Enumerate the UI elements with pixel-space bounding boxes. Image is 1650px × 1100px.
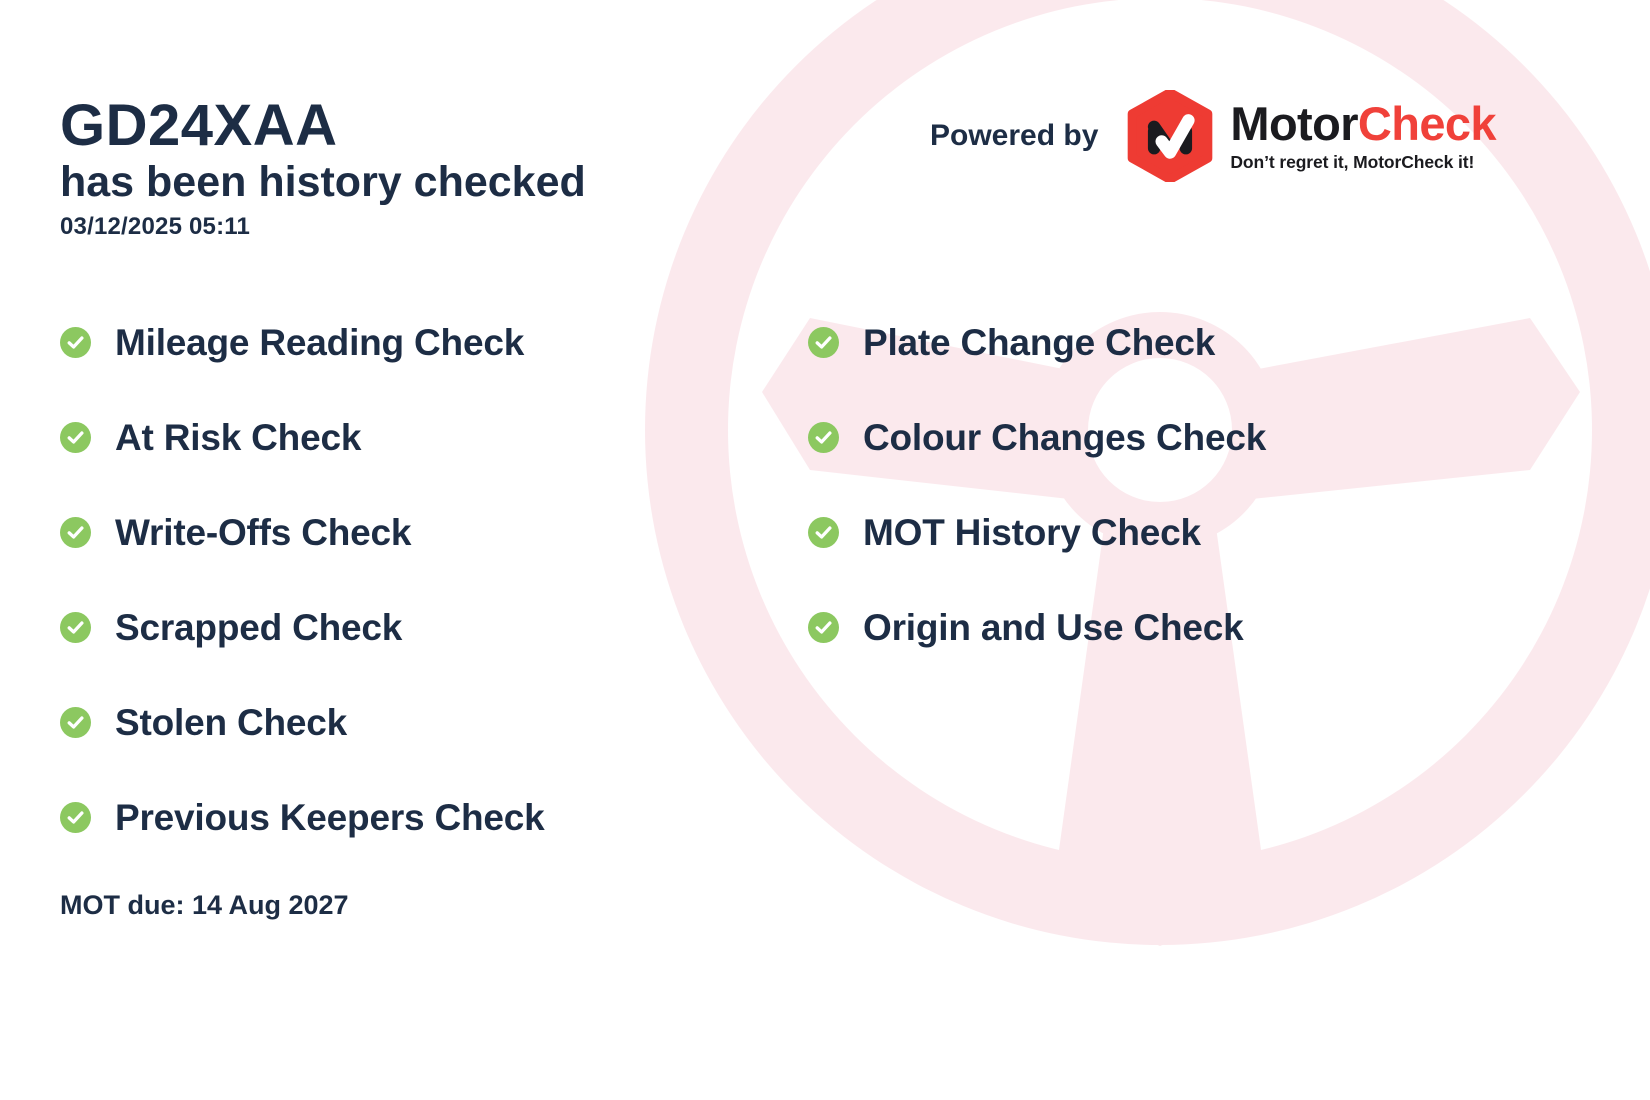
check-timestamp: 03/12/2025 05:11 — [60, 213, 586, 241]
powered-by-block: Powered by MotorCheck — [930, 88, 1496, 184]
wordmark-check: Check — [1358, 97, 1496, 150]
motorcheck-wordmark: MotorCheck — [1230, 100, 1496, 147]
check-circle-icon — [60, 802, 91, 833]
check-circle-icon — [60, 612, 91, 643]
check-label: At Risk Check — [115, 419, 361, 456]
check-circle-icon — [60, 422, 91, 453]
checks-column-left: Mileage Reading Check At Risk Check Writ… — [60, 313, 545, 883]
check-circle-icon — [808, 517, 839, 548]
motorcheck-logo[interactable]: MotorCheck Don’t regret it, MotorCheck i… — [1124, 90, 1496, 182]
mot-due-date: MOT due: 14 Aug 2027 — [60, 890, 349, 921]
check-item: Stolen Check — [60, 693, 545, 751]
header-subtitle: has been history checked — [60, 156, 586, 208]
header-block: GD24XAA has been history checked 03/12/2… — [60, 96, 586, 241]
check-circle-icon — [60, 707, 91, 738]
check-circle-icon — [808, 422, 839, 453]
check-label: Stolen Check — [115, 704, 347, 741]
check-circle-icon — [60, 327, 91, 358]
check-circle-icon — [808, 327, 839, 358]
check-item: Write-Offs Check — [60, 503, 545, 561]
motorcheck-wordmark-block: MotorCheck Don’t regret it, MotorCheck i… — [1230, 100, 1496, 173]
check-item: Mileage Reading Check — [60, 313, 545, 371]
check-item: Scrapped Check — [60, 598, 545, 656]
check-item: Origin and Use Check — [808, 598, 1266, 656]
wordmark-motor: Motor — [1230, 97, 1358, 150]
check-item: Colour Changes Check — [808, 408, 1266, 466]
check-circle-icon — [60, 517, 91, 548]
check-label: Write-Offs Check — [115, 514, 411, 551]
check-item: MOT History Check — [808, 503, 1266, 561]
powered-by-label: Powered by — [930, 119, 1098, 153]
check-item: Previous Keepers Check — [60, 788, 545, 846]
vehicle-history-check-card: GD24XAA has been history checked 03/12/2… — [0, 0, 1650, 1100]
check-label: MOT History Check — [863, 514, 1201, 551]
check-label: Previous Keepers Check — [115, 799, 545, 836]
check-label: Mileage Reading Check — [115, 324, 524, 361]
motorcheck-tagline: Don’t regret it, MotorCheck it! — [1230, 152, 1496, 173]
check-item: Plate Change Check — [808, 313, 1266, 371]
check-label: Scrapped Check — [115, 609, 402, 646]
check-item: At Risk Check — [60, 408, 545, 466]
check-label: Origin and Use Check — [863, 609, 1244, 646]
checks-column-right: Plate Change Check Colour Changes Check … — [808, 313, 1266, 693]
check-label: Colour Changes Check — [863, 419, 1266, 456]
check-label: Plate Change Check — [863, 324, 1215, 361]
motorcheck-hexagon-logo-icon — [1124, 90, 1216, 182]
check-circle-icon — [808, 612, 839, 643]
vehicle-registration-plate: GD24XAA — [60, 96, 586, 156]
